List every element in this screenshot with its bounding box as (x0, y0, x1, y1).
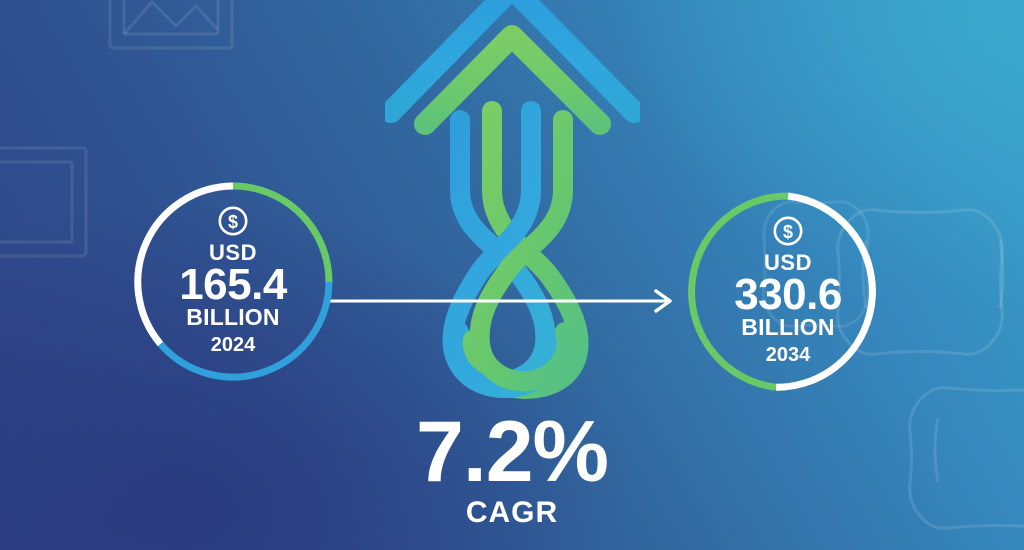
ribbon-stems (460, 111, 563, 194)
kpi-content-2024: $ USD 165.4 BILLION 2024 (133, 182, 333, 382)
dollar-coin-icon: $ (216, 204, 250, 238)
kpi-circle-2024: $ USD 165.4 BILLION 2024 (133, 182, 333, 382)
kpi-circle-2034: $ USD 330.6 BILLION 2034 (688, 192, 888, 392)
kpi-value: 330.6 (734, 273, 842, 317)
svg-text:$: $ (783, 222, 793, 242)
connector-arrow (330, 288, 690, 314)
cagr-value: 7.2% (0, 412, 1024, 494)
kpi-unit-label: BILLION (741, 315, 834, 339)
cagr-block: 7.2% CAGR (0, 412, 1024, 529)
kpi-year-label: 2024 (211, 335, 256, 356)
upward-arrow-dna-logo (385, 0, 640, 404)
kpi-year-label: 2034 (766, 345, 811, 366)
cagr-label: CAGR (0, 496, 1024, 529)
image-frame-outline (110, 0, 232, 48)
infographic-canvas: $ USD 165.4 BILLION 2024 $ USD 330.6 BIL… (0, 0, 1024, 550)
rectangle-outline (0, 148, 86, 256)
kpi-content-2034: $ USD 330.6 BILLION 2034 (688, 192, 888, 392)
dollar-coin-icon: $ (771, 214, 805, 248)
kpi-unit-label: BILLION (186, 305, 279, 329)
chevron-outer (391, 0, 634, 112)
kpi-value: 165.4 (179, 263, 287, 307)
svg-text:$: $ (228, 212, 238, 232)
